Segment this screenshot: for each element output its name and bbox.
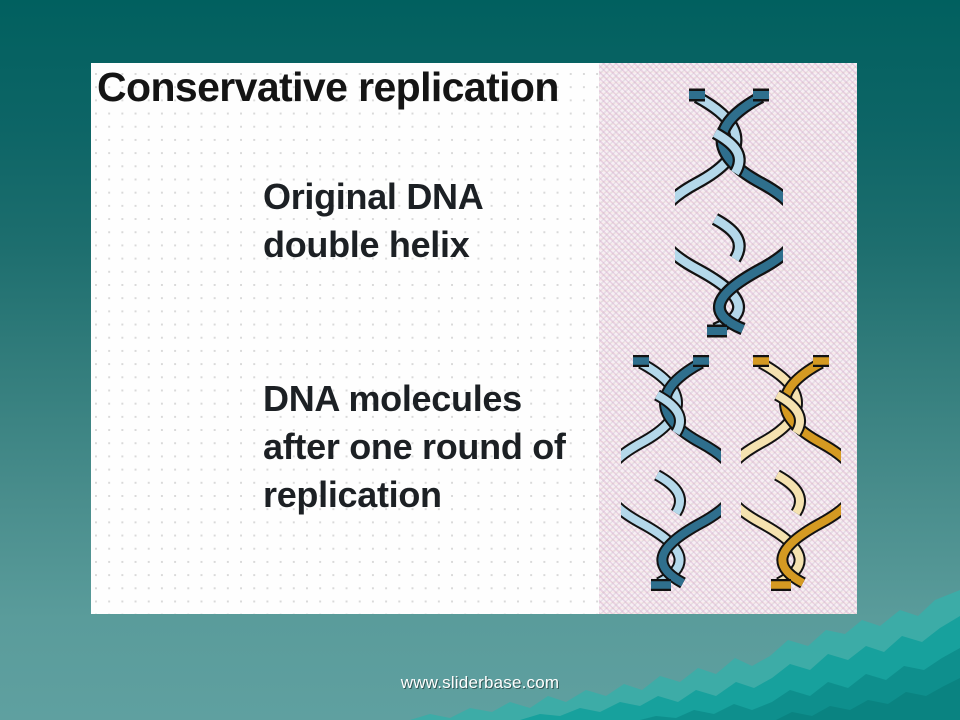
caption-after-replication: DNA molecules after one round of replica… xyxy=(263,375,593,519)
daughter-helix-parent-illustration xyxy=(621,349,721,599)
slide-content-panel: Conservative replication Original DNA do… xyxy=(91,63,857,614)
text-column: Conservative replication Original DNA do… xyxy=(91,63,599,614)
watermark-text: www.sliderbase.com xyxy=(0,673,960,693)
page-title: Conservative replication xyxy=(97,65,597,109)
daughter-helix-new-illustration xyxy=(741,349,841,599)
caption-original-dna: Original DNA double helix xyxy=(263,173,593,269)
original-double-helix-illustration xyxy=(675,81,783,343)
figure-column xyxy=(599,63,857,614)
